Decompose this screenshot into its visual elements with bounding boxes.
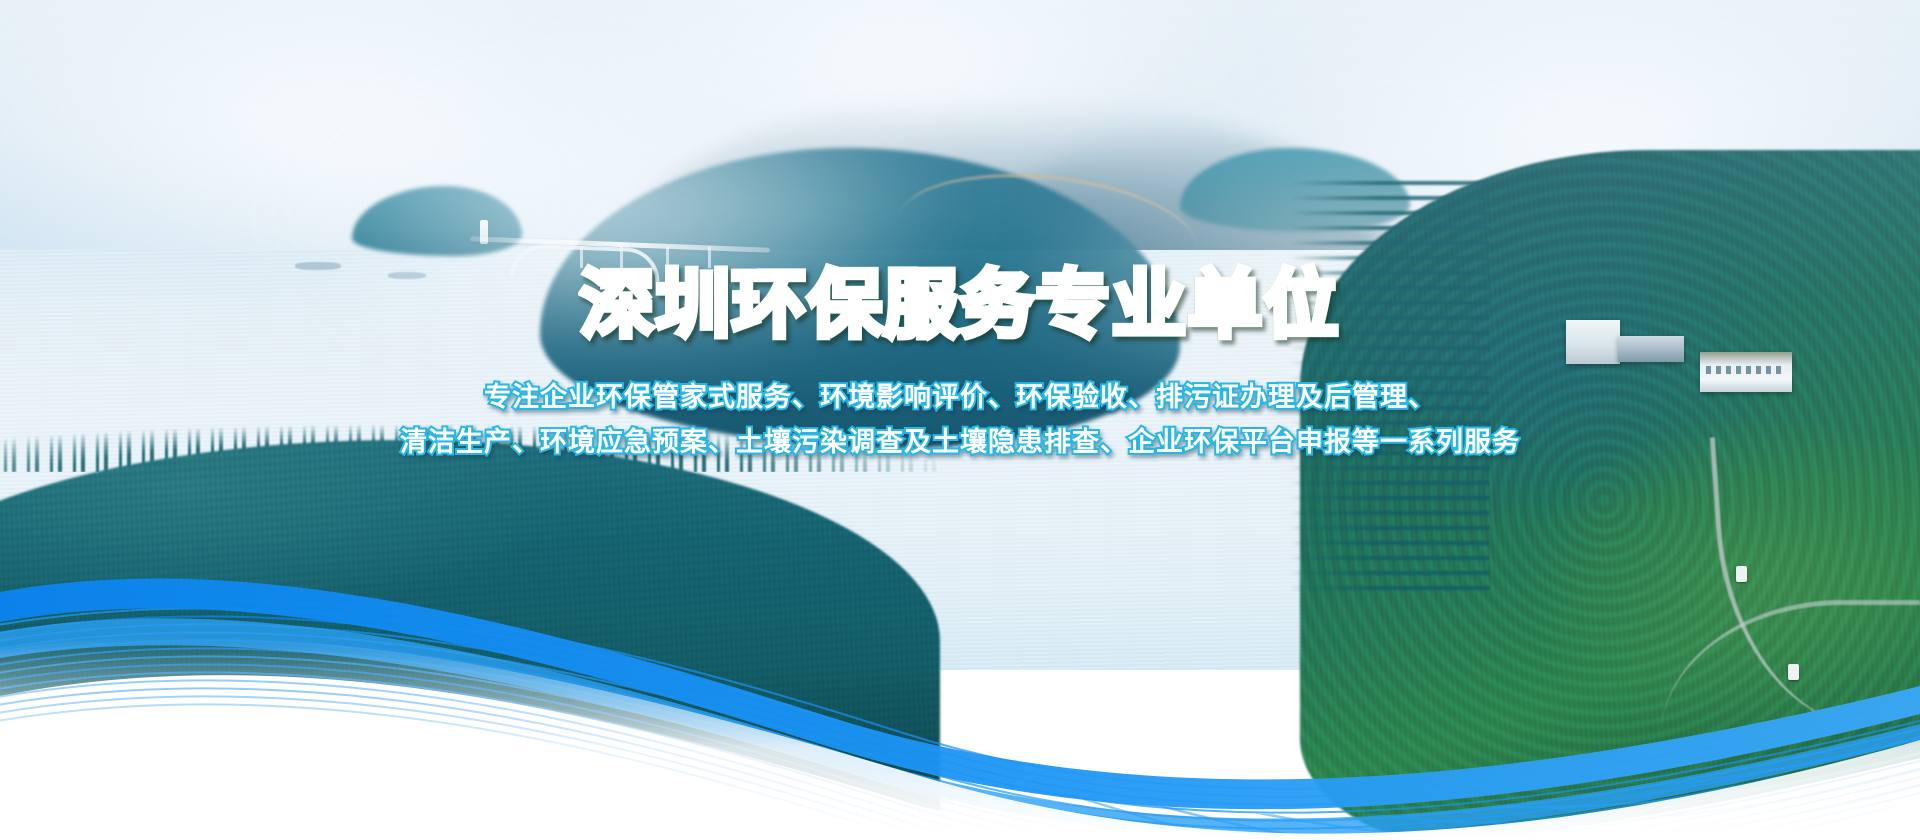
hillside-building <box>1618 336 1684 362</box>
hero-banner: 深圳环保服务专业单位 专注企业环保管家式服务、环境影响评价、环保验收、排污证办理… <box>0 0 1920 840</box>
landscape-photo <box>0 0 1920 840</box>
car <box>1788 664 1799 680</box>
fog-patch <box>260 60 960 360</box>
hillside-building <box>1566 320 1620 364</box>
tree-canopy <box>1290 176 1490 596</box>
car <box>1736 566 1747 582</box>
building-windows <box>1706 366 1784 374</box>
